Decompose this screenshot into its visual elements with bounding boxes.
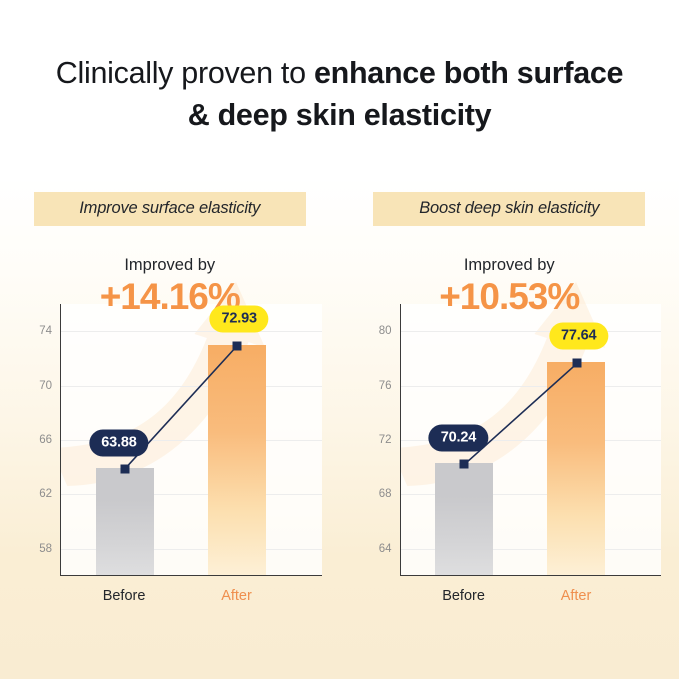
y-tick-label: 70 bbox=[39, 380, 52, 392]
improvement-percentage-0: +14.16% bbox=[0, 276, 340, 318]
data-label-after: 77.64 bbox=[549, 323, 608, 350]
chart-banner-title-1: Boost deep skin elasticity bbox=[373, 192, 645, 226]
improvement-percentage-1: +10.53% bbox=[340, 276, 679, 318]
data-label-before: 70.24 bbox=[429, 424, 488, 451]
improved-by-label-0: Improved by bbox=[0, 256, 340, 275]
headline-regular-text: Clinically proven to bbox=[56, 56, 314, 90]
chart-panel-surface-elasticity: Improve surface elasticity Improved by +… bbox=[0, 192, 340, 652]
data-label-after: 72.93 bbox=[210, 305, 269, 332]
y-tick-label: 66 bbox=[39, 434, 52, 446]
x-axis-labels-0: BeforeAfter bbox=[60, 582, 322, 608]
data-point-marker bbox=[233, 341, 242, 350]
y-tick-label: 58 bbox=[39, 543, 52, 555]
y-tick-label: 80 bbox=[379, 325, 392, 337]
y-axis-labels-1: 8076726864 bbox=[368, 304, 398, 576]
x-axis-labels-1: BeforeAfter bbox=[400, 582, 662, 608]
plot-area-0: 63.8872.93 bbox=[60, 304, 322, 576]
y-tick-label: 72 bbox=[379, 434, 392, 446]
chart-1: 8076726864 70.2477.64 BeforeAfter bbox=[368, 304, 662, 606]
page-headline: Clinically proven to enhance both surfac… bbox=[0, 52, 679, 136]
chart-0: 7470666258 63.8872.93 BeforeAfter bbox=[28, 304, 322, 606]
y-tick-label: 76 bbox=[379, 380, 392, 392]
data-label-before: 63.88 bbox=[89, 429, 148, 456]
charts-container: Improve surface elasticity Improved by +… bbox=[0, 192, 679, 652]
y-axis-labels-0: 7470666258 bbox=[28, 304, 58, 576]
data-point-marker bbox=[460, 459, 469, 468]
y-tick-label: 62 bbox=[39, 488, 52, 500]
y-tick-label: 74 bbox=[39, 325, 52, 337]
x-tick-label-after: After bbox=[221, 588, 252, 604]
data-point-marker bbox=[572, 359, 581, 368]
y-tick-label: 68 bbox=[379, 488, 392, 500]
x-tick-label-after: After bbox=[561, 588, 592, 604]
improved-by-label-1: Improved by bbox=[340, 256, 679, 275]
x-tick-label-before: Before bbox=[103, 588, 146, 604]
plot-area-1: 70.2477.64 bbox=[400, 304, 662, 576]
x-tick-label-before: Before bbox=[442, 588, 485, 604]
chart-panel-deep-skin-elasticity: Boost deep skin elasticity Improved by +… bbox=[340, 192, 679, 652]
data-point-marker bbox=[120, 464, 129, 473]
y-tick-label: 64 bbox=[379, 543, 392, 555]
chart-banner-title-0: Improve surface elasticity bbox=[34, 192, 306, 226]
